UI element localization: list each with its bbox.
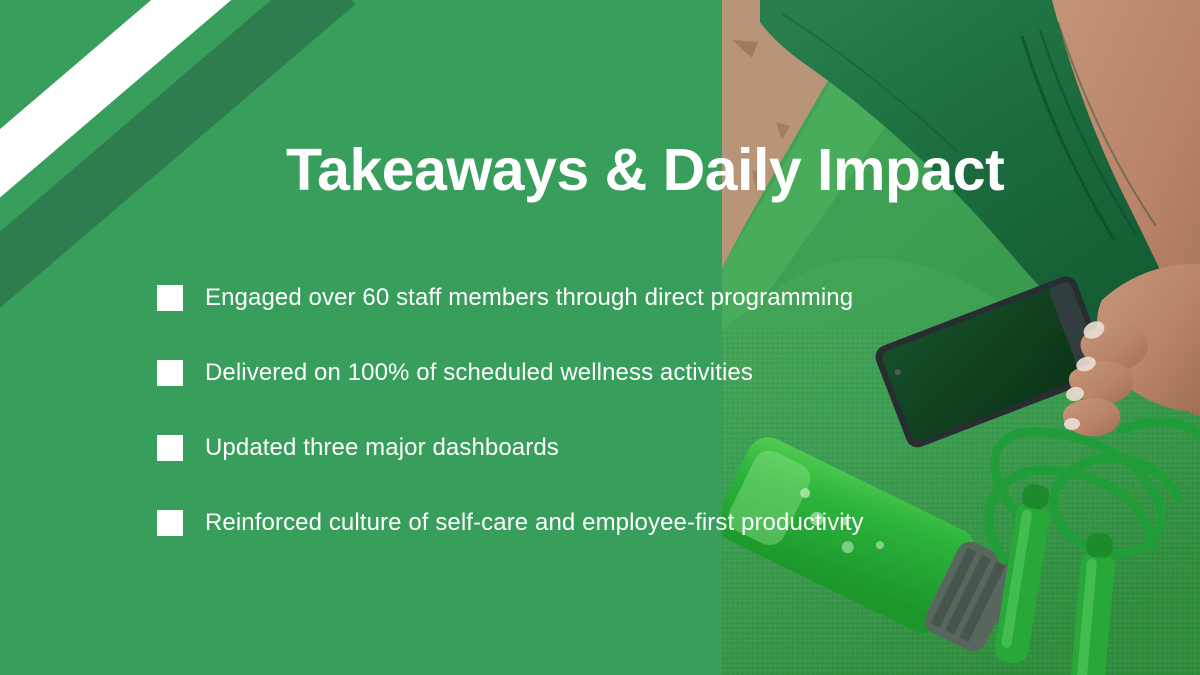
list-item: Delivered on 100% of scheduled wellness …: [157, 358, 864, 388]
slide-canvas: Takeaways & Daily Impact Engaged over 60…: [0, 0, 1200, 675]
square-bullet-icon: [157, 510, 183, 536]
square-bullet-icon: [157, 285, 183, 311]
takeaways-list: Engaged over 60 staff members through di…: [157, 283, 864, 538]
list-item: Updated three major dashboards: [157, 433, 864, 463]
list-item-label: Engaged over 60 staff members through di…: [205, 284, 853, 312]
square-bullet-icon: [157, 435, 183, 461]
list-item-label: Reinforced culture of self-care and empl…: [205, 509, 864, 537]
list-item-label: Updated three major dashboards: [205, 434, 559, 462]
square-bullet-icon: [157, 360, 183, 386]
list-item-label: Delivered on 100% of scheduled wellness …: [205, 359, 753, 387]
page-title: Takeaways & Daily Impact: [286, 136, 1004, 204]
list-item: Engaged over 60 staff members through di…: [157, 283, 864, 313]
list-item: Reinforced culture of self-care and empl…: [157, 508, 864, 538]
